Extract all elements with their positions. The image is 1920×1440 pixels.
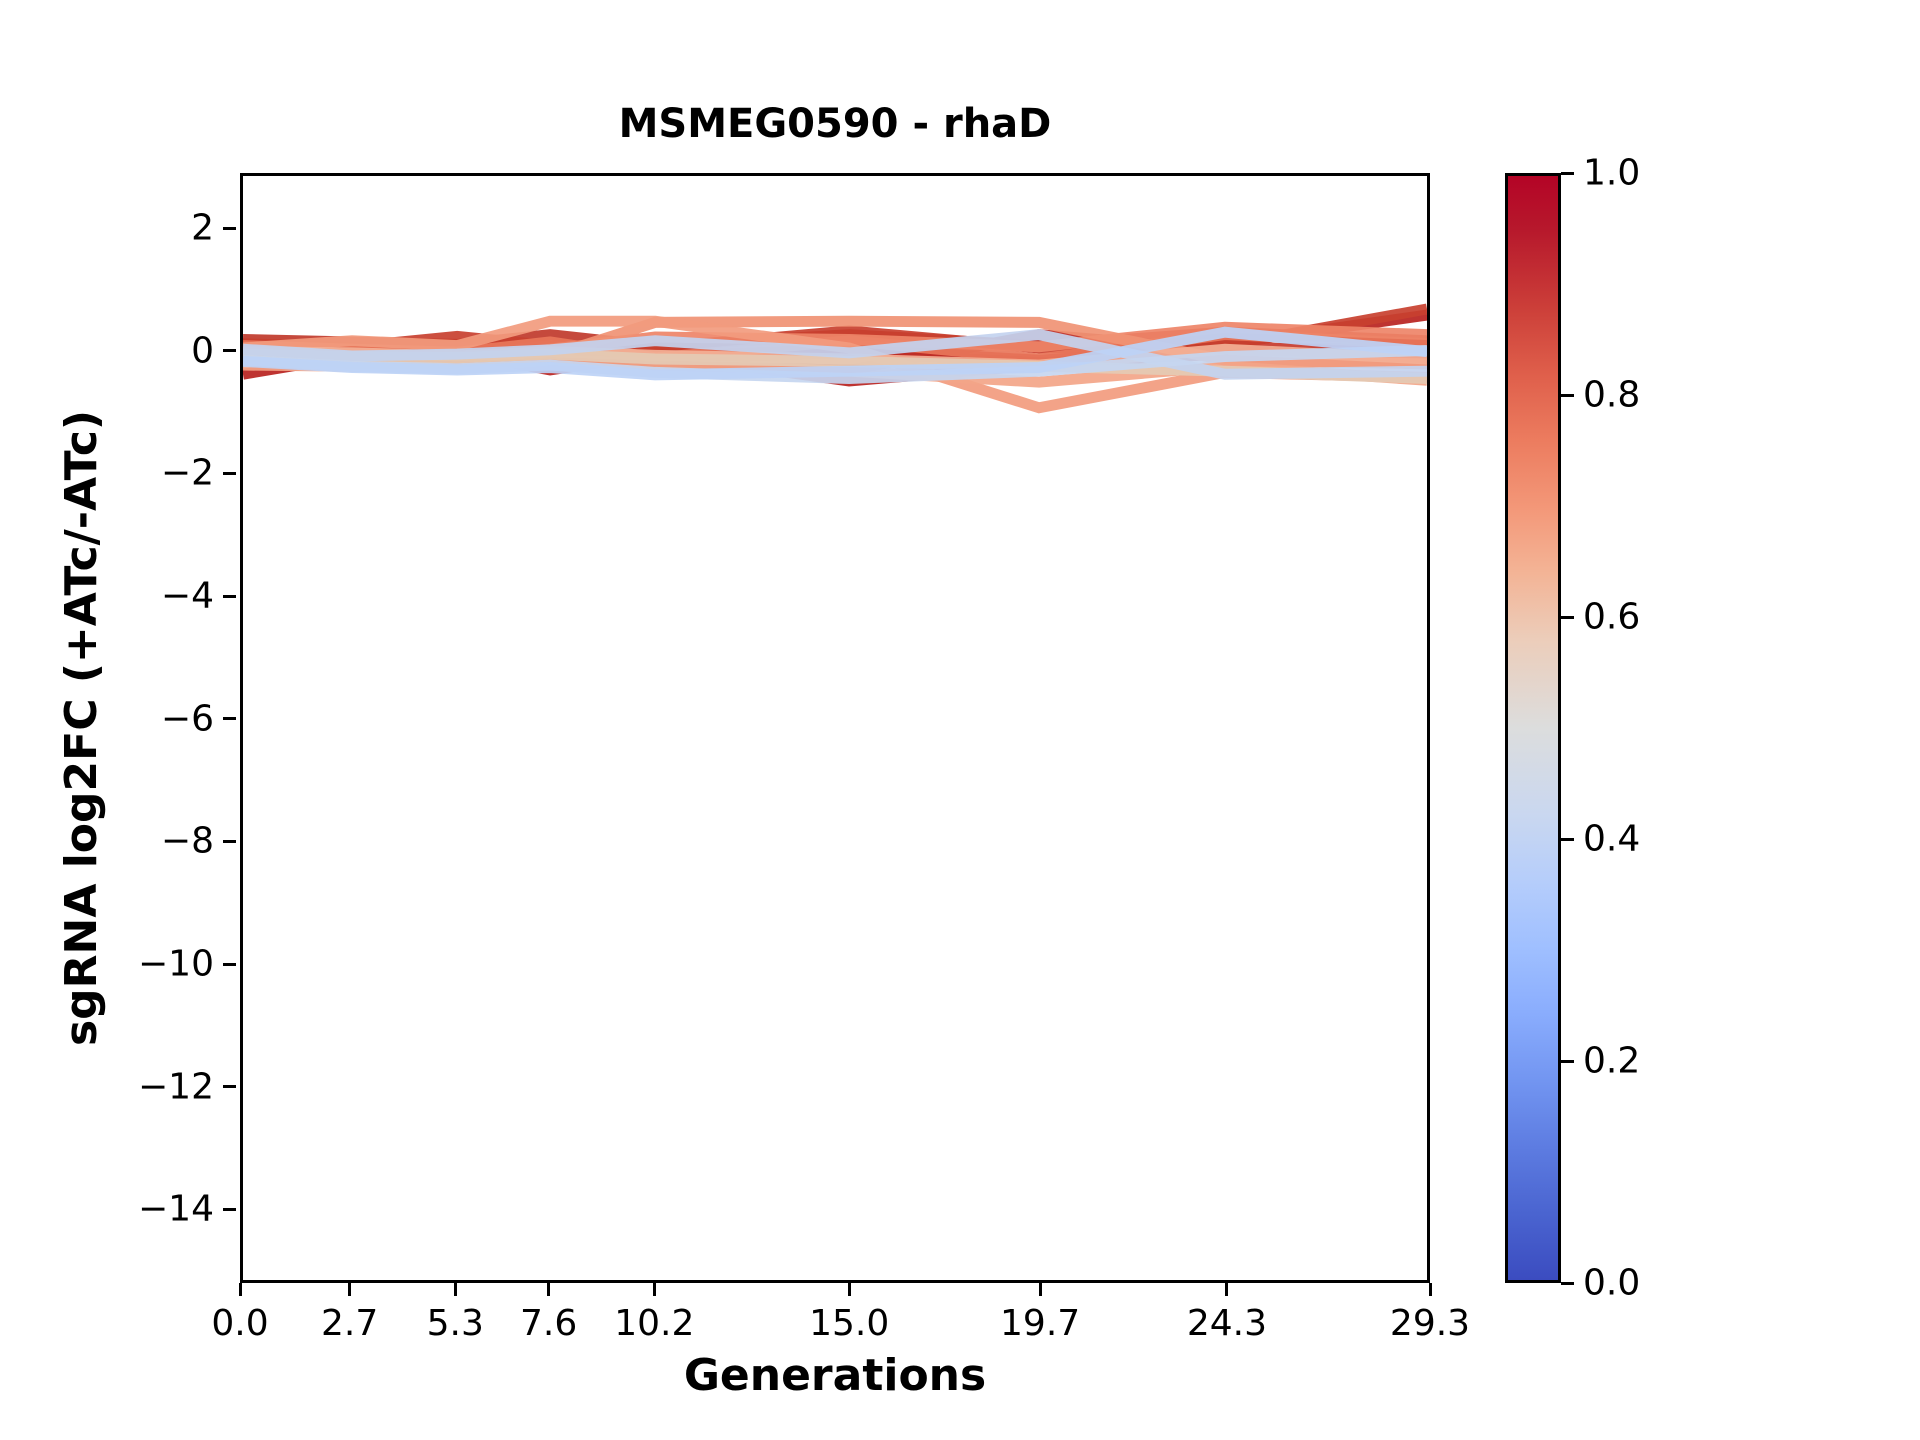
figure-canvas: MSMEG0590 - rhaD 20−2−4−6−8−10−12−14 0.0… <box>0 0 1920 1440</box>
x-tick-label: 24.3 <box>1187 1303 1267 1344</box>
colorbar-tick-mark <box>1561 1060 1574 1063</box>
x-tick-mark <box>1225 1283 1228 1296</box>
x-tick-mark <box>848 1283 851 1296</box>
colorbar-tick-mark <box>1561 838 1574 841</box>
plot-area <box>240 173 1430 1283</box>
x-tick-mark <box>454 1283 457 1296</box>
x-tick-label: 19.7 <box>1000 1303 1080 1344</box>
y-tick-mark <box>223 1208 236 1211</box>
y-tick-mark <box>223 472 236 475</box>
x-tick-label: 5.3 <box>427 1303 484 1344</box>
y-tick-label: −14 <box>138 1189 214 1230</box>
colorbar-tick-mark <box>1561 1282 1574 1285</box>
colorbar-tick-label: 0.0 <box>1583 1263 1640 1304</box>
y-tick-label: −10 <box>138 944 214 985</box>
series-lines-svg <box>243 176 1427 1280</box>
chart-title: MSMEG0590 - rhaD <box>240 104 1430 144</box>
y-tick-label: 2 <box>191 208 214 249</box>
y-tick-mark <box>223 349 236 352</box>
y-tick-label: −4 <box>161 576 214 617</box>
y-tick-label: −2 <box>161 453 214 494</box>
y-tick-label: −12 <box>138 1066 214 1107</box>
y-tick-mark <box>223 595 236 598</box>
x-tick-label: 15.0 <box>809 1303 889 1344</box>
y-tick-label: 0 <box>191 330 214 371</box>
y-tick-mark <box>223 840 236 843</box>
y-axis-label: sgRNA log2FC (+ATc/-ATc) <box>56 173 107 1283</box>
colorbar-tick-mark <box>1561 172 1574 175</box>
colorbar-tick-label: 0.6 <box>1583 597 1640 638</box>
y-tick-label: −6 <box>161 698 214 739</box>
x-axis-label: Generations <box>240 1350 1430 1401</box>
colorbar-tick-label: 0.8 <box>1583 375 1640 416</box>
colorbar-tick-mark <box>1561 616 1574 619</box>
x-tick-label: 7.6 <box>520 1303 577 1344</box>
x-tick-mark <box>653 1283 656 1296</box>
x-tick-label: 29.3 <box>1390 1303 1470 1344</box>
y-tick-mark <box>223 227 236 230</box>
x-tick-mark <box>547 1283 550 1296</box>
x-tick-label: 2.7 <box>321 1303 378 1344</box>
colorbar-tick-label: 1.0 <box>1583 153 1640 194</box>
colorbar-gradient <box>1505 173 1561 1283</box>
x-tick-label: 10.2 <box>614 1303 694 1344</box>
colorbar: 0.00.20.40.60.81.0 <box>1505 173 1561 1283</box>
x-tick-mark <box>1429 1283 1432 1296</box>
y-tick-mark <box>223 1085 236 1088</box>
x-tick-mark <box>1039 1283 1042 1296</box>
colorbar-tick-mark <box>1561 394 1574 397</box>
x-tick-mark <box>239 1283 242 1296</box>
x-tick-mark <box>348 1283 351 1296</box>
x-tick-label: 0.0 <box>211 1303 268 1344</box>
y-tick-mark <box>223 963 236 966</box>
colorbar-tick-label: 0.2 <box>1583 1041 1640 1082</box>
y-tick-mark <box>223 717 236 720</box>
colorbar-tick-label: 0.4 <box>1583 819 1640 860</box>
y-tick-label: −8 <box>161 821 214 862</box>
